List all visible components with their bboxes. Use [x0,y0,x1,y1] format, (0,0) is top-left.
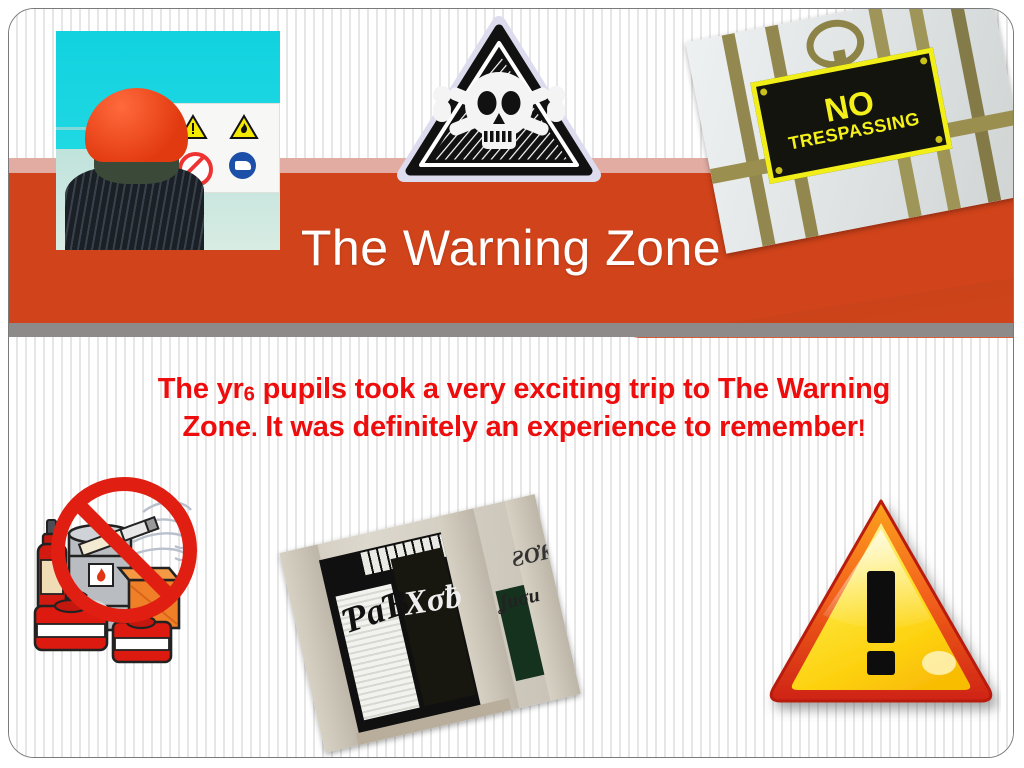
banner-grey-strip [9,323,1013,337]
sign-bolt [935,135,943,143]
sign-bolt [759,88,767,96]
image-no-smoking-flammables [21,456,236,671]
no-smoking-flammables-icon [21,456,236,671]
warning-exclamation-icon [761,487,1001,722]
image-skull-hazard-triangle [394,13,604,188]
flammable-triangle-icon [229,114,259,140]
body-line1-b: pupils took a very exciting trip [255,373,675,405]
body-line2-b: It was definitely [257,411,477,443]
body-line1-subscript: 6 [244,383,255,405]
slide-canvas: The Warning Zone The yr6 pupils took a v… [8,8,1014,758]
image-worker-safety-sign [56,31,280,250]
sign-bolt [919,56,927,64]
safety-boots-icon [229,152,256,179]
body-paragraph: The yr6 pupils took a very exciting trip… [129,371,919,446]
graffiti-tag: Xσƀ [402,581,464,620]
sign-bolt [775,166,783,174]
body-line3-a: an experience to remember [486,411,858,443]
skull-crossbones-icon [394,13,604,188]
body-line3-exclamation: ! [858,415,866,442]
image-warning-exclamation-triangle [761,487,1001,722]
image-graffiti-shopfront: ƤɑƁ Xσƀ ʆиσи ƧƠƘ [279,494,580,753]
body-line1-a: The yr [158,373,244,405]
